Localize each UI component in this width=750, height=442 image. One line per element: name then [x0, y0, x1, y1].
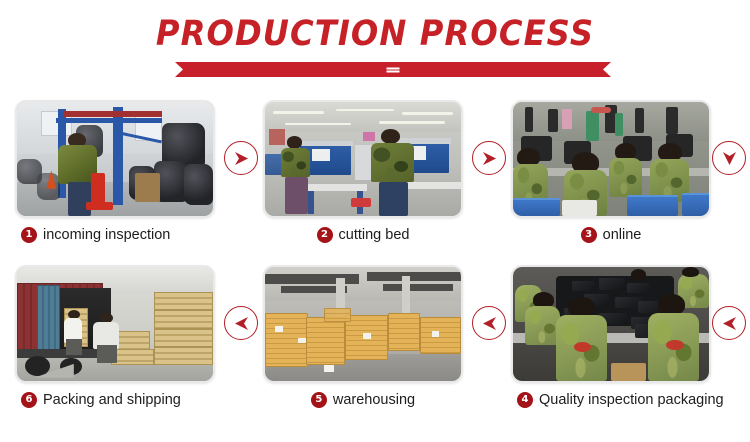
process-step-5: 5 warehousing [263, 265, 463, 415]
header: PRODUCTION PROCESS [0, 0, 750, 92]
arrow-right-icon-1 [224, 141, 258, 175]
scene-quality-packing [513, 267, 709, 381]
step-badge-6: 6 [21, 392, 37, 408]
step-label-3: online [603, 227, 642, 243]
arrow-left-icon-3 [712, 306, 746, 340]
process-row-top: 1 incoming inspection [0, 100, 750, 250]
step-caption-4: 4 Quality inspection packaging [511, 386, 711, 414]
arrow-down-icon-1 [712, 141, 746, 175]
step-label-4: Quality inspection packaging [539, 392, 724, 408]
step-photo-cutting-bed [263, 100, 463, 218]
process-step-3: 3 online [511, 100, 711, 250]
step-photo-warehousing [263, 265, 463, 383]
step-photo-quality-inspection [511, 265, 711, 383]
scene-sewing-line [513, 102, 709, 216]
page-title: PRODUCTION PROCESS [30, 14, 720, 54]
step-photo-packing-shipping [15, 265, 215, 383]
step-badge-1: 1 [21, 227, 37, 243]
scene-carton-warehouse [265, 267, 461, 381]
step-photo-online [511, 100, 711, 218]
production-process-infographic: PRODUCTION PROCESS [0, 0, 750, 442]
step-caption-1: 1 incoming inspection [15, 221, 215, 249]
step-label-5: warehousing [333, 392, 415, 408]
scene-factory-cutting [265, 102, 461, 216]
step-caption-5: 5 warehousing [263, 386, 463, 414]
process-step-2: 2 cutting bed [263, 100, 463, 250]
step-label-2: cutting bed [339, 227, 410, 243]
scene-warehouse-incoming [17, 102, 213, 216]
process-step-6: 6 Packing and shipping [15, 265, 215, 415]
arrow-left-icon-1 [224, 306, 258, 340]
scene-container-loading [17, 267, 213, 381]
step-label-1: incoming inspection [43, 227, 170, 243]
arrow-right-icon-2 [472, 141, 506, 175]
step-badge-2: 2 [317, 227, 333, 243]
title-ribbon [175, 62, 611, 77]
arrow-left-icon-2 [472, 306, 506, 340]
process-step-1: 1 incoming inspection [15, 100, 215, 250]
step-caption-2: 2 cutting bed [263, 221, 463, 249]
step-caption-3: 3 online [511, 221, 711, 249]
step-badge-3: 3 [581, 227, 597, 243]
process-row-bottom: 6 Packing and shipping [0, 265, 750, 415]
step-photo-incoming-inspection [15, 100, 215, 218]
step-caption-6: 6 Packing and shipping [15, 386, 215, 414]
process-step-4: 4 Quality inspection packaging [511, 265, 711, 415]
step-badge-5: 5 [311, 392, 327, 408]
step-badge-4: 4 [517, 392, 533, 408]
ribbon-center-mark [387, 67, 400, 72]
step-label-6: Packing and shipping [43, 392, 181, 408]
